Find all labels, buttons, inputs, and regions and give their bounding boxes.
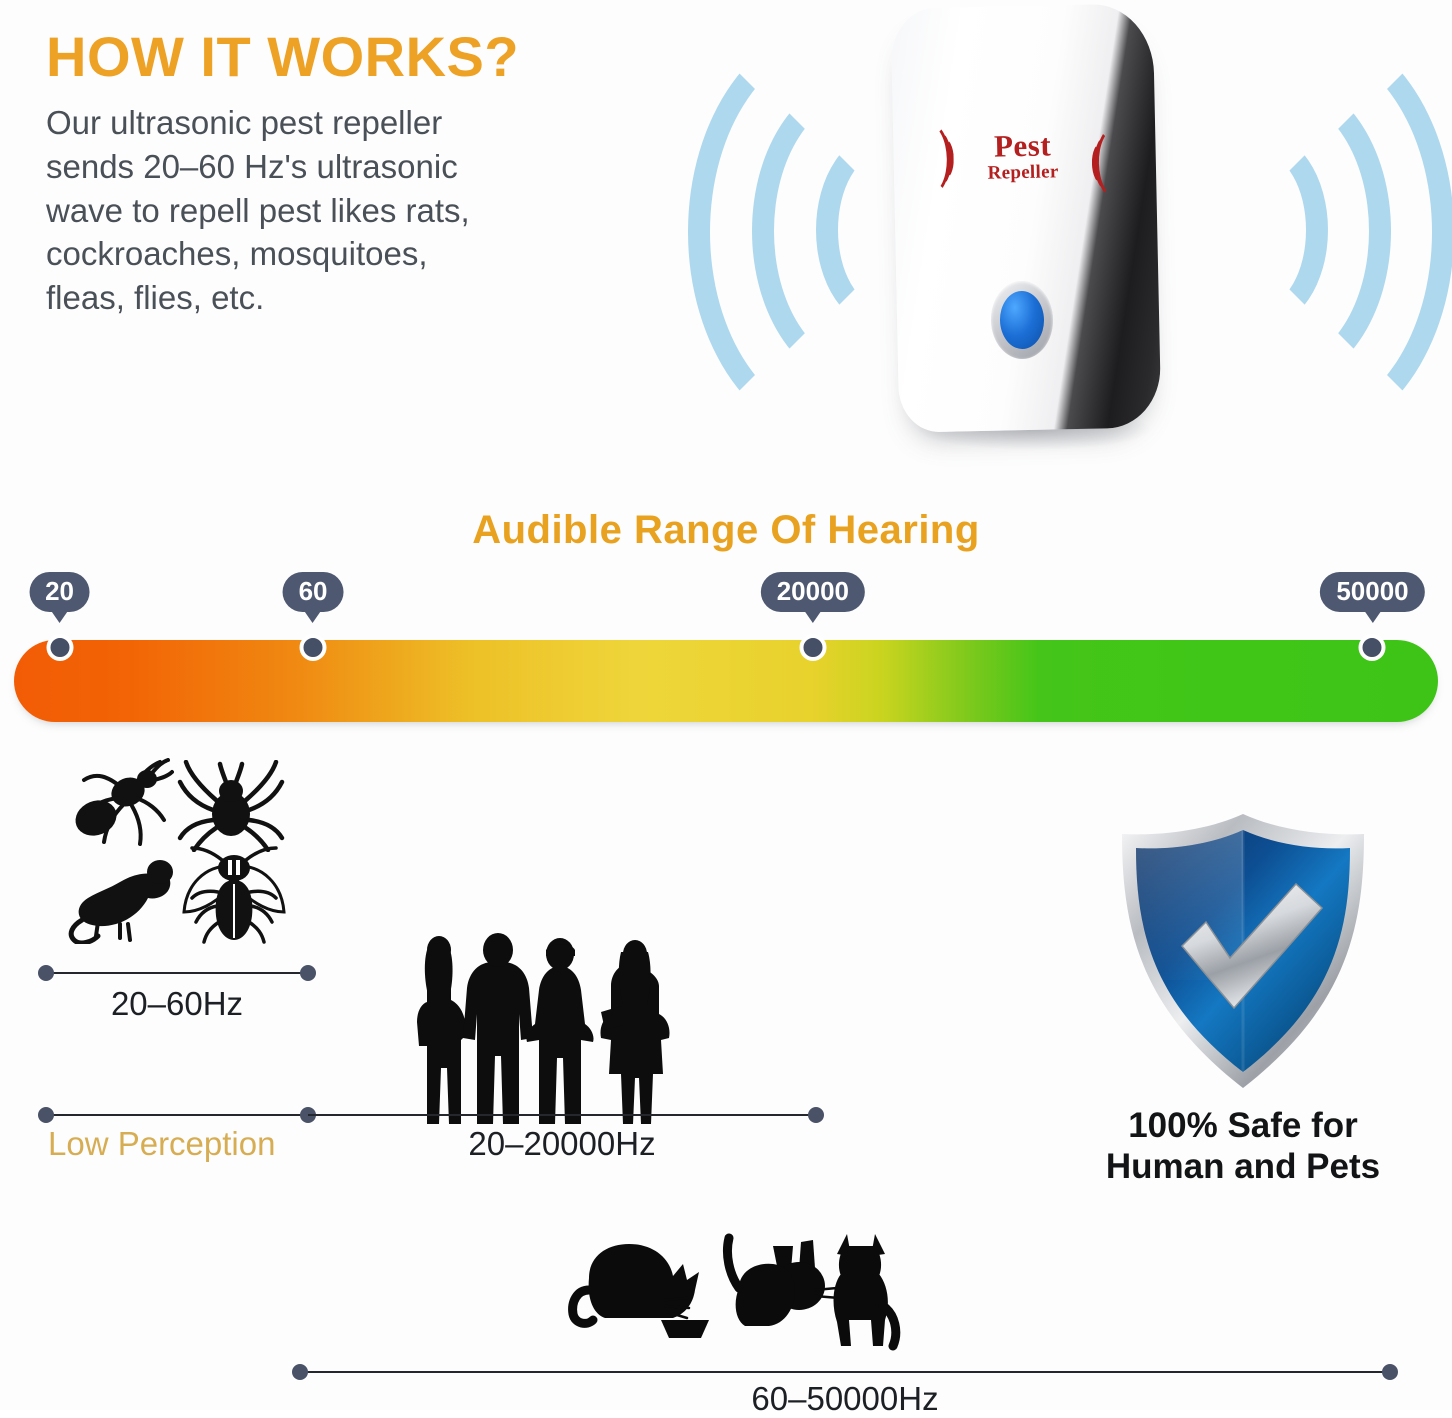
device-logo-bottom-text: Repeller bbox=[938, 159, 1108, 186]
spectrum-marker-dot bbox=[1359, 634, 1386, 661]
device-logo: Pest Repeller bbox=[937, 128, 1109, 208]
safety-badge-caption: 100% Safe for Human and Pets bbox=[1068, 1105, 1418, 1188]
spectrum-marker-dot bbox=[799, 634, 826, 661]
measure-line bbox=[46, 972, 308, 974]
measure-cap-right bbox=[300, 965, 316, 981]
how-it-works-description: Our ultrasonic pest repeller sends 20–60… bbox=[46, 101, 666, 320]
measure-cap-left bbox=[38, 1107, 54, 1123]
measure-label-pest: 20–60Hz bbox=[46, 985, 308, 1023]
spectrum-marker-dot bbox=[46, 634, 73, 661]
mouse-icon bbox=[68, 852, 180, 944]
spectrum-marker-label: 60 bbox=[283, 572, 344, 612]
device-illustration: Pest Repeller bbox=[690, 0, 1452, 470]
page-title: HOW IT WORKS? bbox=[46, 28, 666, 87]
audible-range-heading: Audible Range Of Hearing bbox=[0, 508, 1452, 553]
spectrum-gradient-bar: 20 60 20000 50000 bbox=[14, 640, 1438, 722]
spider-icon bbox=[176, 760, 286, 852]
measure-cap-left bbox=[38, 965, 54, 981]
measure-label-pets: 60–50000Hz bbox=[300, 1380, 1390, 1418]
shield-check-icon bbox=[1100, 808, 1386, 1094]
cat-eating-icon bbox=[573, 1244, 709, 1338]
measure-cap-right bbox=[808, 1107, 824, 1123]
measure-label-low-perception: Low Perception bbox=[48, 1125, 310, 1163]
human-silhouette-icon bbox=[405, 928, 675, 1130]
measure-label-human: 20–20000Hz bbox=[308, 1125, 816, 1163]
ant-icon bbox=[62, 758, 174, 850]
spectrum-marker-dot bbox=[300, 634, 327, 661]
spectrum-chart: 20 60 20000 50000 bbox=[0, 640, 1452, 726]
spectrum-marker-label: 20000 bbox=[761, 572, 865, 612]
sound-wave-right-inner-icon bbox=[1196, 132, 1328, 328]
measure-line bbox=[300, 1371, 1390, 1373]
safety-badge: 100% Safe for Human and Pets bbox=[1068, 808, 1418, 1188]
pet-icon-group bbox=[565, 1228, 965, 1356]
measure-pet-range: 60–50000Hz bbox=[300, 1362, 1390, 1382]
spectrum-marker-label: 50000 bbox=[1320, 572, 1424, 612]
measure-pest-range: 20–60Hz bbox=[46, 963, 308, 983]
measure-line bbox=[46, 1114, 308, 1116]
measure-cap-left bbox=[292, 1364, 308, 1380]
measure-human-range: 20–20000Hz bbox=[308, 1105, 816, 1125]
pest-repeller-device bbox=[891, 3, 1162, 432]
pest-icon-group bbox=[62, 758, 298, 948]
how-it-works-block: HOW IT WORKS? Our ultrasonic pest repell… bbox=[46, 28, 666, 320]
device-logo-top-text: Pest bbox=[937, 128, 1108, 163]
measure-cap-right bbox=[1382, 1364, 1398, 1380]
measure-line bbox=[308, 1114, 816, 1116]
cockroach-icon bbox=[178, 846, 290, 946]
measure-low-perception: Low Perception bbox=[46, 1105, 308, 1125]
cat-standing-icon bbox=[834, 1234, 896, 1346]
cat-sitting-icon bbox=[727, 1238, 839, 1326]
spectrum-marker-label: 20 bbox=[29, 572, 90, 612]
